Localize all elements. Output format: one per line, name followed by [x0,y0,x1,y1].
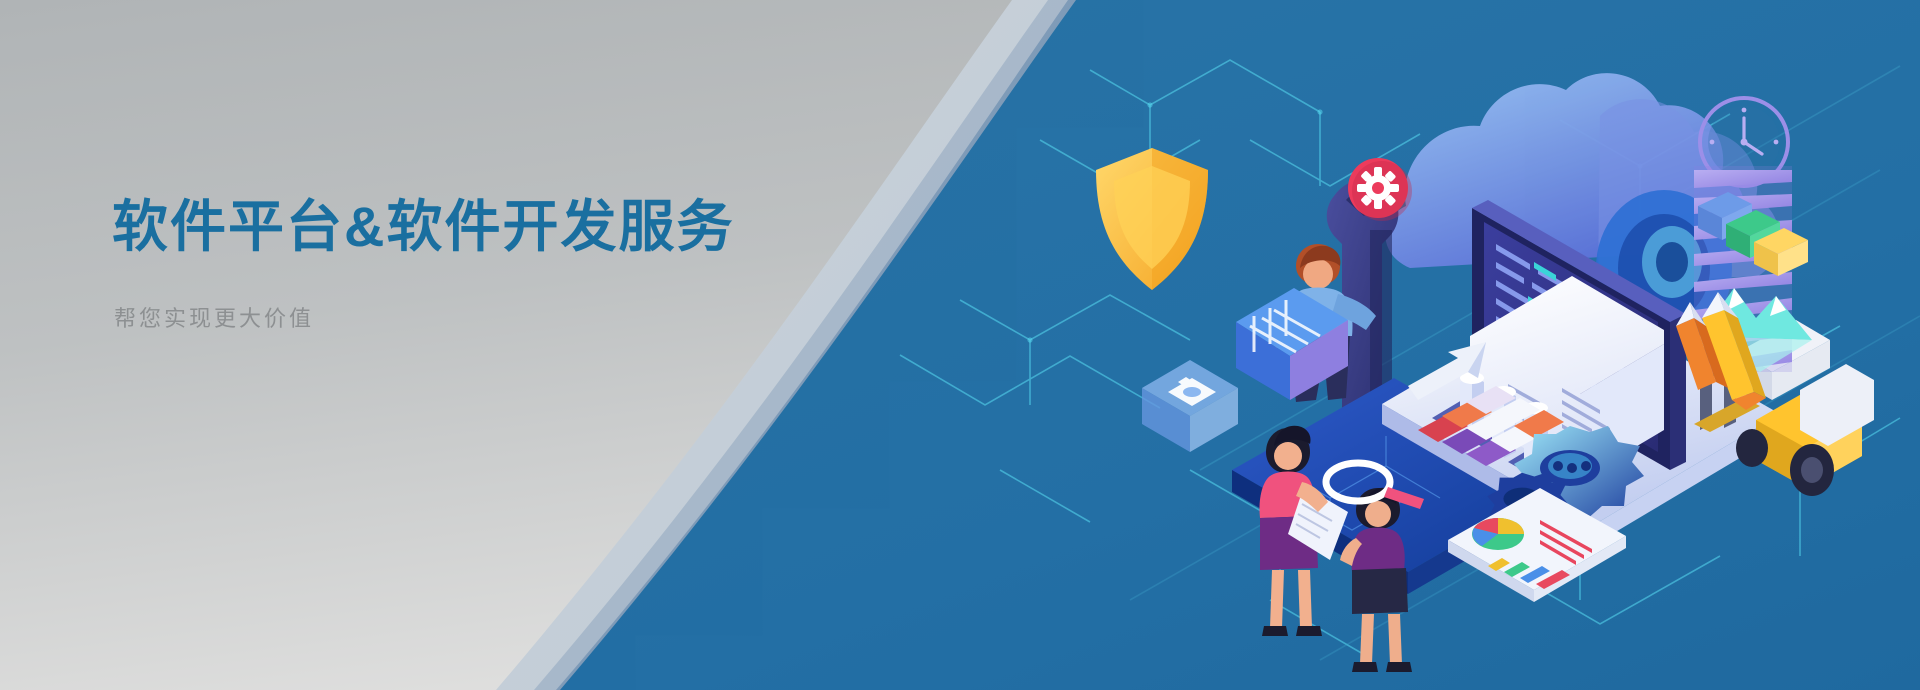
shield-icon [1096,148,1208,290]
page-subtitle: 帮您实现更大价值 [114,301,892,333]
page-title: 软件平台&软件开发服务 [112,196,892,259]
camera-tile-icon [1142,360,1238,452]
banner-text-block: 软件平台&软件开发服务 帮您实现更大价值 [112,196,892,333]
pie-chart-icon [1472,518,1524,550]
illustration-layer [0,0,1920,690]
hero-banner: 软件平台&软件开发服务 帮您实现更大价值 [0,0,1920,690]
isometric-illustration [0,0,1920,690]
